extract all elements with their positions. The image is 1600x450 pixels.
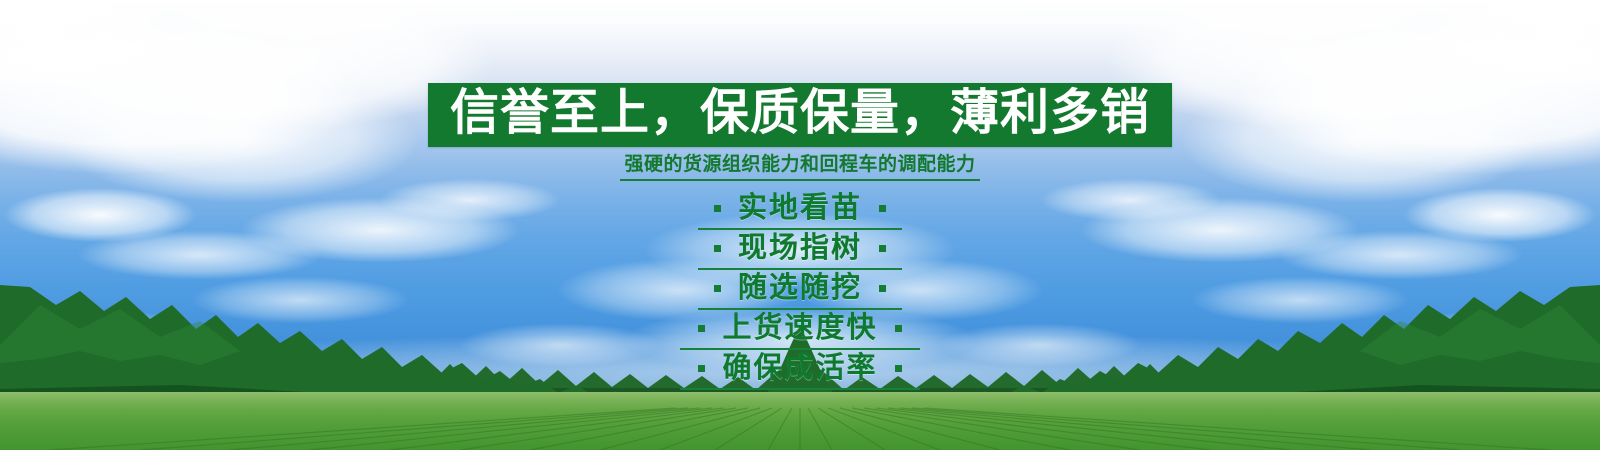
feature-label: 实地看苗	[738, 191, 862, 225]
bullet-dot-icon	[714, 285, 721, 292]
bullet-dot-icon	[895, 365, 902, 372]
feature-list: 实地看苗 现场指树 随选随挖 上货速度快 确保成活率	[680, 190, 920, 390]
bullet-dot-icon	[698, 325, 705, 332]
bullet-dot-icon	[698, 365, 705, 372]
headline-banner: 信誉至上，保质保量，薄利多销	[428, 83, 1172, 147]
feature-label: 随选随挖	[738, 271, 862, 305]
bullet-dot-icon	[879, 205, 886, 212]
headline-text: 信誉至上，保质保量，薄利多销	[450, 88, 1150, 138]
bullet-dot-icon	[879, 245, 886, 252]
banner-content: 信誉至上，保质保量，薄利多销 强硬的货源组织能力和回程车的调配能力 实地看苗 现…	[0, 0, 1600, 450]
bullet-dot-icon	[714, 245, 721, 252]
bullet-dot-icon	[895, 325, 902, 332]
feature-label: 确保成活率	[722, 351, 877, 385]
subtitle-text: 强硬的货源组织能力和回程车的调配能力	[620, 153, 979, 181]
feature-label: 现场指树	[738, 231, 862, 265]
feature-item: 实地看苗	[698, 190, 902, 230]
feature-item: 上货速度快	[680, 310, 920, 350]
feature-item: 随选随挖	[698, 270, 902, 310]
bullet-dot-icon	[714, 205, 721, 212]
feature-item: 确保成活率	[680, 350, 920, 390]
bullet-dot-icon	[879, 285, 886, 292]
promo-banner: 信誉至上，保质保量，薄利多销 强硬的货源组织能力和回程车的调配能力 实地看苗 现…	[0, 0, 1600, 450]
feature-label: 上货速度快	[722, 311, 877, 345]
feature-item: 现场指树	[698, 230, 902, 270]
